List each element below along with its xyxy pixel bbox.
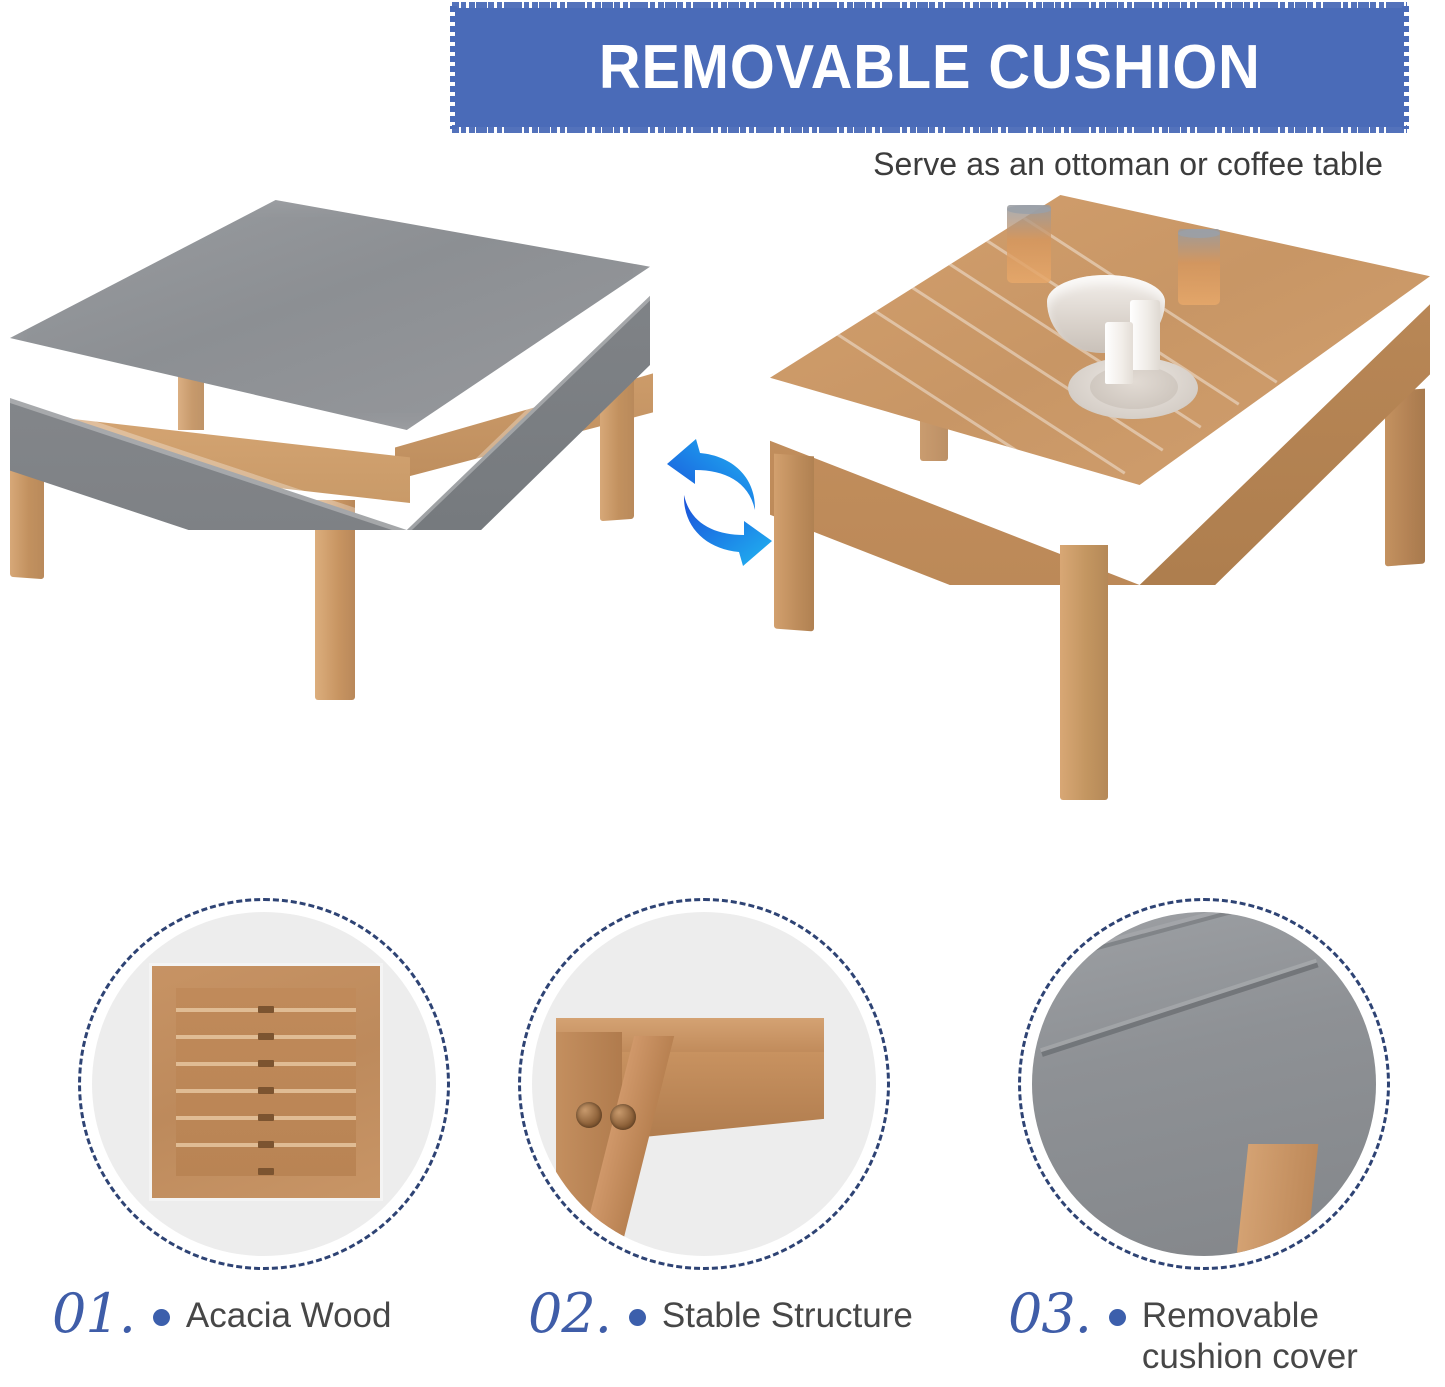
feature-circle-stable-structure [518, 898, 890, 1270]
table-leg-front-left [774, 454, 814, 632]
feature-caption-03: 03. Removable cushion cover [1008, 1285, 1358, 1378]
hero-comparison-row [0, 175, 1445, 875]
feature-circle-border [1018, 898, 1390, 1270]
feature-circle-border [518, 898, 890, 1270]
header-banner: REMOVABLE CUSHION [455, 8, 1404, 127]
banner-edge-right [1402, 6, 1409, 129]
candle-short [1105, 322, 1133, 384]
table-slat-line [809, 315, 1087, 497]
feature-label: Removable cushion cover [1142, 1285, 1358, 1378]
ottoman-product-image [0, 200, 660, 820]
page-title: REMOVABLE CUSHION [599, 32, 1261, 103]
amber-glass-left [1007, 205, 1051, 283]
feature-caption-01: 01. Acacia Wood [52, 1285, 391, 1341]
infographic-page: REMOVABLE CUSHION Serve as an ottoman or… [0, 0, 1445, 1387]
feature-caption-02: 02. Stable Structure [528, 1285, 913, 1341]
bullet-dot-icon [629, 1309, 646, 1326]
feature-label: Stable Structure [662, 1285, 913, 1336]
glass-rim [1178, 229, 1220, 238]
banner-edge-left [450, 6, 457, 129]
feature-number: 01. [52, 1285, 135, 1341]
glass-rim [1007, 205, 1051, 214]
plate-inner [1090, 365, 1178, 409]
amber-glass-right [1178, 229, 1220, 305]
bullet-dot-icon [153, 1309, 170, 1326]
feature-circle-acacia-wood [78, 898, 450, 1270]
table-leg-back-right [1385, 389, 1425, 567]
ottoman-leg-front-center [315, 500, 355, 700]
feature-circle-removable-cover [1018, 898, 1390, 1270]
coffee-table-product-image [760, 185, 1440, 845]
feature-number: 02. [528, 1285, 611, 1341]
candle-tall [1130, 300, 1160, 370]
feature-circle-border [78, 898, 450, 1270]
feature-number: 03. [1008, 1285, 1091, 1341]
feature-label: Acacia Wood [186, 1285, 392, 1336]
table-leg-front-center [1060, 545, 1108, 800]
bullet-dot-icon [1109, 1309, 1126, 1326]
